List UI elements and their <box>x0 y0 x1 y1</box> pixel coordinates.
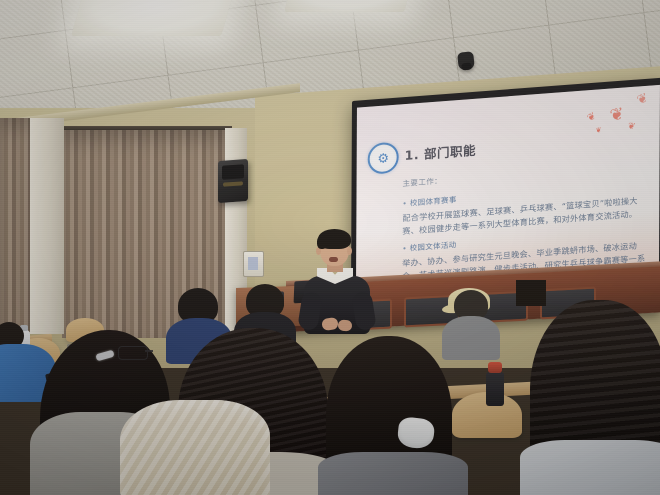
slide-subtitle: 主要工作： <box>403 175 443 189</box>
eyeglasses <box>118 346 148 360</box>
lecture-hall-photo: ❦ ❦ ❦ ❦ ❦ ⚙ 1. 部门职能 主要工作： 校园体育赛事 配合学校开展篮… <box>0 0 660 495</box>
bird-icon: ❦ <box>627 121 636 131</box>
wall-speaker-icon <box>218 159 248 203</box>
student-long-hair-right <box>520 440 660 495</box>
slide-bird-decoration: ❦ ❦ ❦ ❦ ❦ <box>550 89 654 145</box>
presenter <box>300 232 374 324</box>
red-lid-bottle <box>486 372 504 406</box>
bird-icon: ❦ <box>608 105 624 125</box>
panel-light-2 <box>284 0 415 12</box>
slide-title: 1. 部门职能 <box>405 140 476 164</box>
presenter-hair <box>318 229 351 249</box>
presenter-mouth <box>329 257 338 262</box>
audience-head <box>516 280 546 306</box>
bird-icon: ❦ <box>596 127 602 135</box>
bird-icon: ❦ <box>635 91 649 107</box>
student-yellow-cap <box>442 316 500 360</box>
wall-control-plate <box>243 251 264 277</box>
student-masked <box>318 452 468 495</box>
emblem-glyph: ⚙ <box>377 151 389 165</box>
ceiling-camera-icon <box>457 51 475 71</box>
wall-pillar-left <box>30 118 64 334</box>
presenter-ear <box>347 247 352 255</box>
university-emblem-icon: ⚙ <box>368 141 399 174</box>
bird-icon: ❦ <box>586 112 598 125</box>
panel-light-1 <box>71 0 239 36</box>
curtain-left <box>0 118 32 332</box>
student-cream-fleece <box>120 400 270 495</box>
